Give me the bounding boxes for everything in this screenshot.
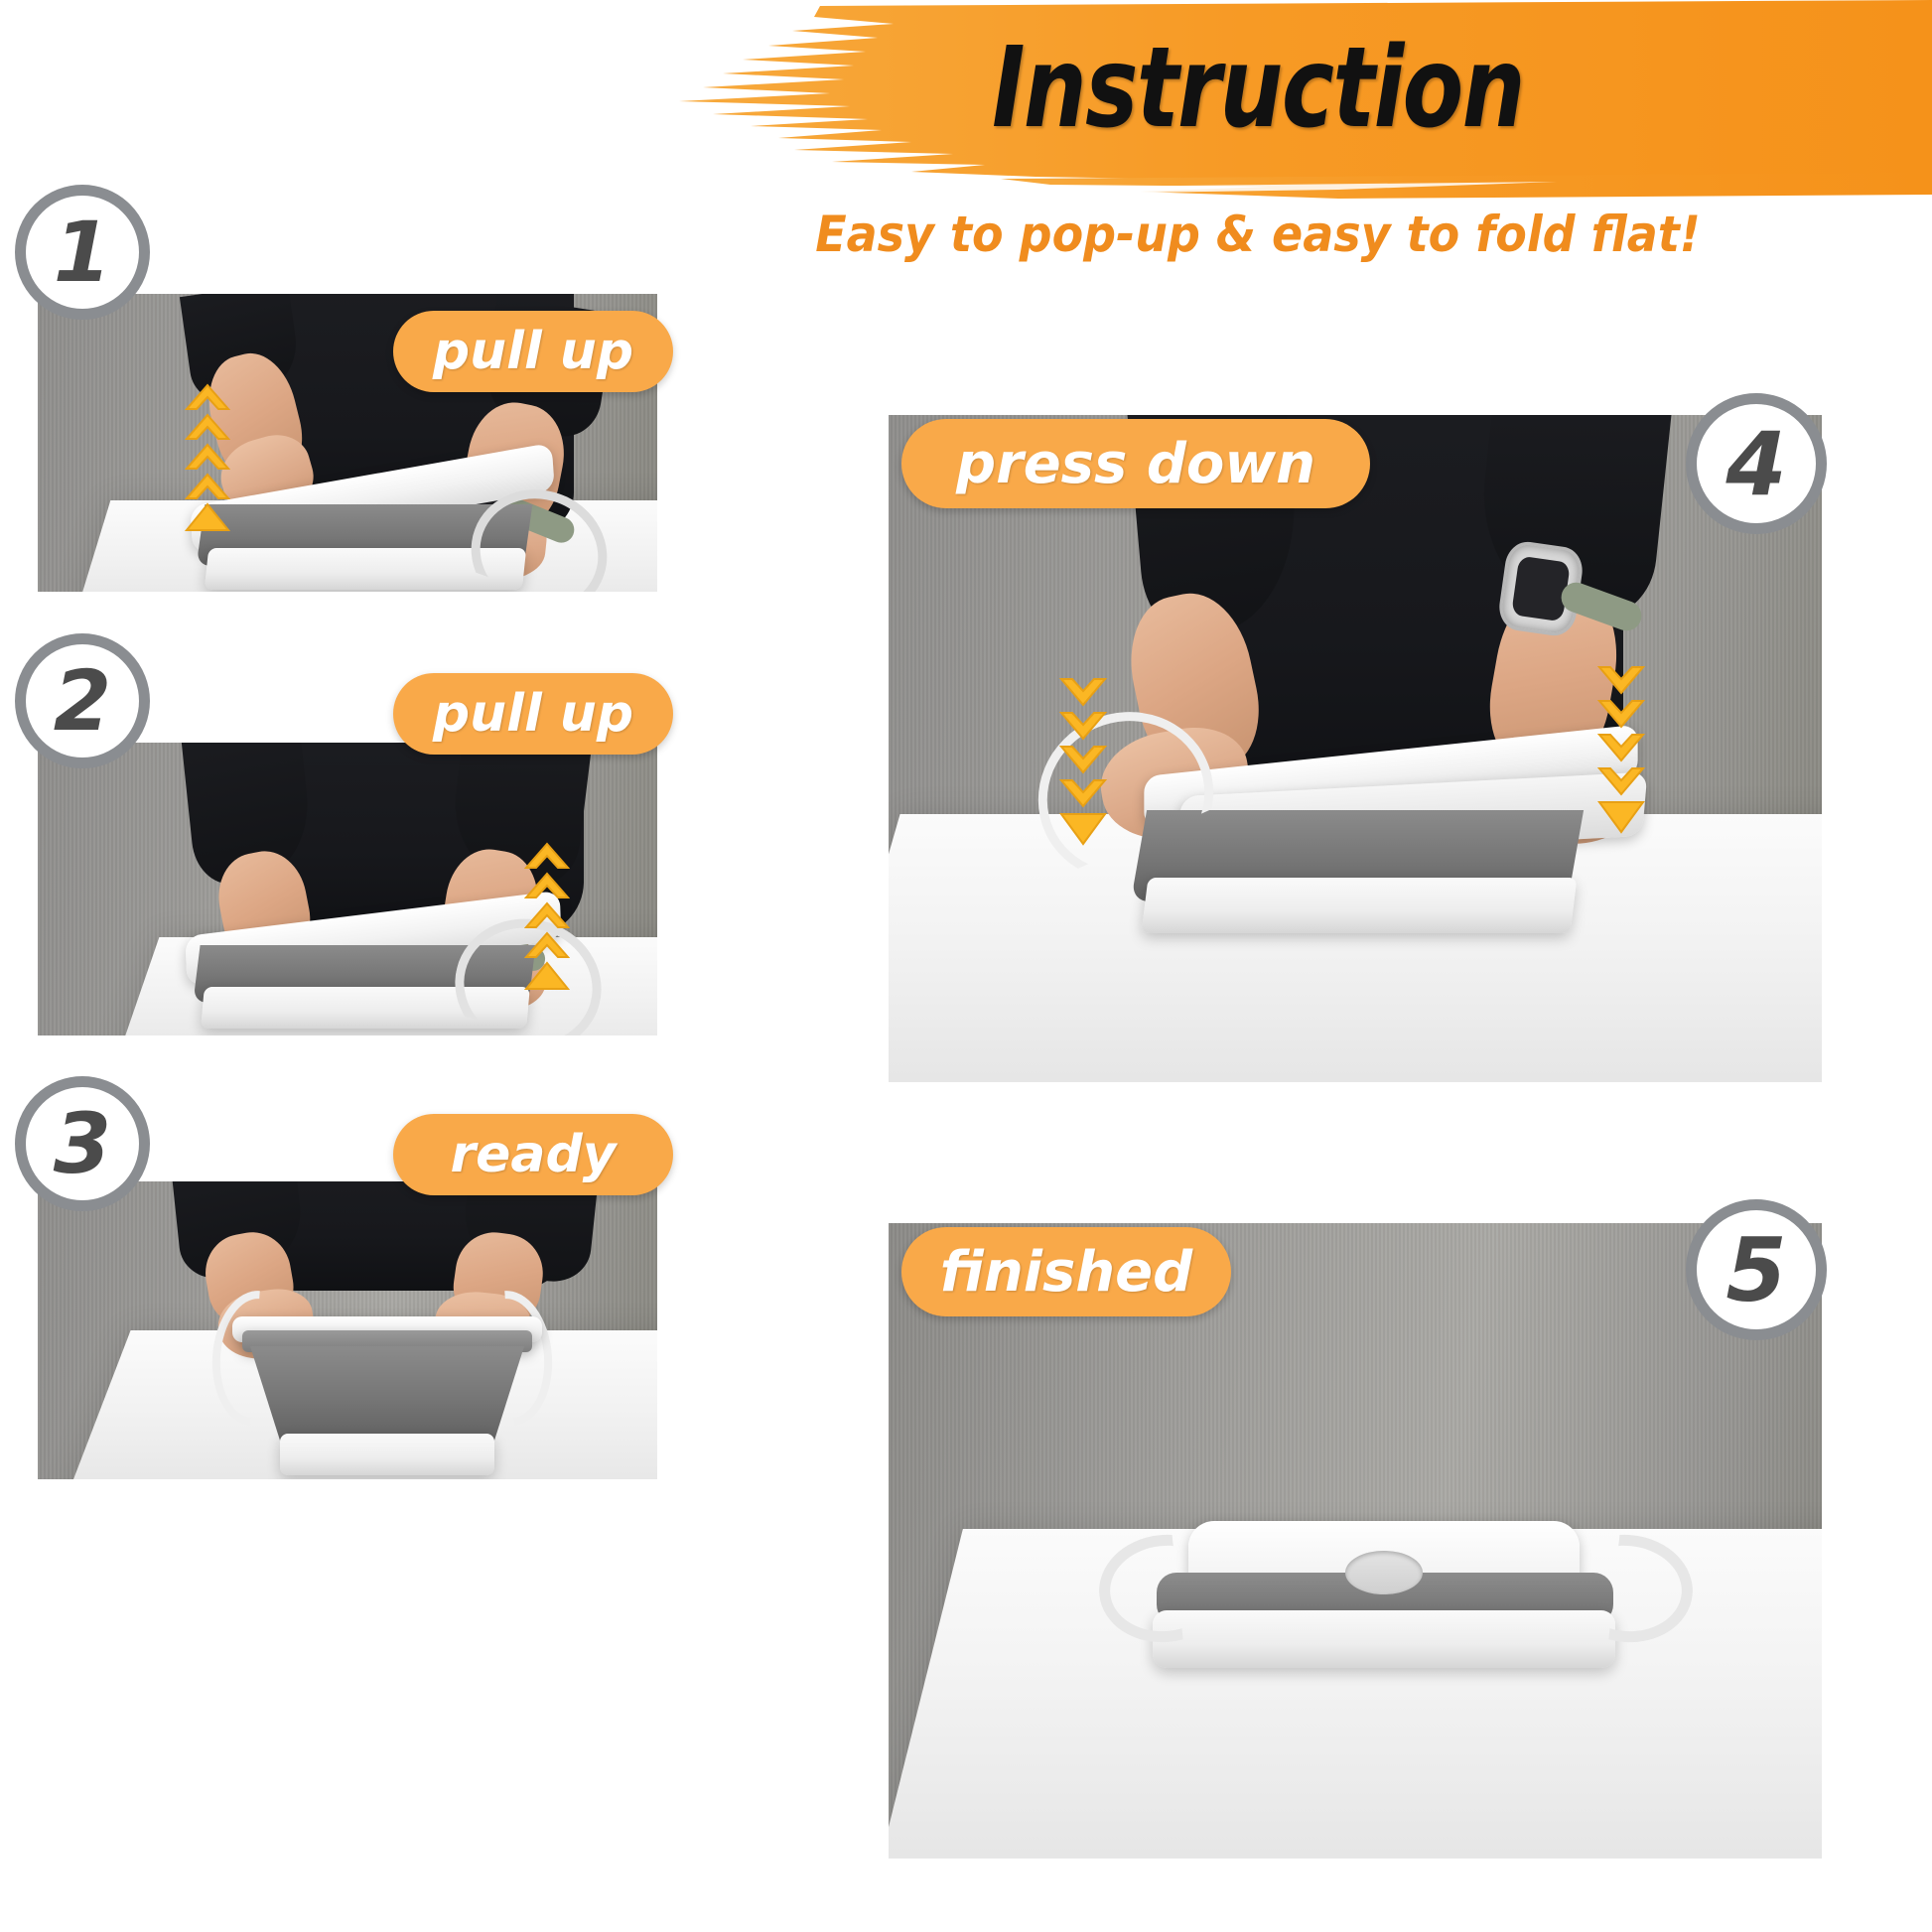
step-1-arrow-stack	[185, 383, 230, 532]
step-5-label-text: finished	[940, 1240, 1192, 1305]
chevron-down-icon	[1595, 663, 1647, 834]
step-4-label-pill: press down	[901, 419, 1370, 508]
step-2-number-badge: 2	[15, 633, 150, 768]
step-5-number-badge: 5	[1686, 1199, 1827, 1340]
step-1-label-pill: pull up	[393, 311, 673, 392]
step-2-arrow-stack	[524, 842, 570, 991]
step-3-number: 3	[54, 1095, 111, 1192]
step-4-number: 4	[1725, 413, 1786, 515]
step-1-number-badge: 1	[15, 185, 150, 320]
step-3-number-badge: 3	[15, 1076, 150, 1211]
step-2-number: 2	[54, 652, 111, 750]
step-5-image	[889, 1223, 1822, 1859]
step-1-number: 1	[54, 204, 111, 301]
step-4-arrow-stack-right	[1595, 663, 1647, 834]
chevron-down-icon	[1057, 675, 1109, 846]
step-2-photo	[38, 743, 657, 1035]
step-5-label-pill: finished	[901, 1227, 1231, 1316]
step-5-photo	[889, 1223, 1822, 1859]
step-4-image	[889, 415, 1822, 1082]
step-2-label-pill: pull up	[393, 673, 673, 755]
step-4-label-text: press down	[956, 432, 1315, 496]
chevron-up-icon	[524, 842, 570, 991]
step-4-number-badge: 4	[1686, 393, 1827, 534]
step-1-label-text: pull up	[433, 322, 633, 381]
step-4-arrow-stack-left	[1057, 675, 1109, 846]
step-3-photo	[38, 1181, 657, 1479]
page-title: Instruction	[719, 14, 1797, 163]
header-banner: Instruction	[584, 0, 1932, 199]
basin-drain-detail	[1345, 1551, 1423, 1594]
page-subtitle: Easy to pop-up & easy to fold flat!	[637, 199, 1877, 270]
step-3-label-pill: ready	[393, 1114, 673, 1195]
step-2-label-text: pull up	[433, 684, 633, 744]
step-3-image	[38, 1181, 657, 1479]
step-3-label-text: ready	[450, 1125, 616, 1184]
infographic-canvas: Instruction Easy to pop-up & easy to fol…	[0, 0, 1932, 1932]
chevron-up-icon	[185, 383, 230, 532]
step-5-number: 5	[1725, 1219, 1786, 1321]
step-4-photo	[889, 415, 1822, 1082]
